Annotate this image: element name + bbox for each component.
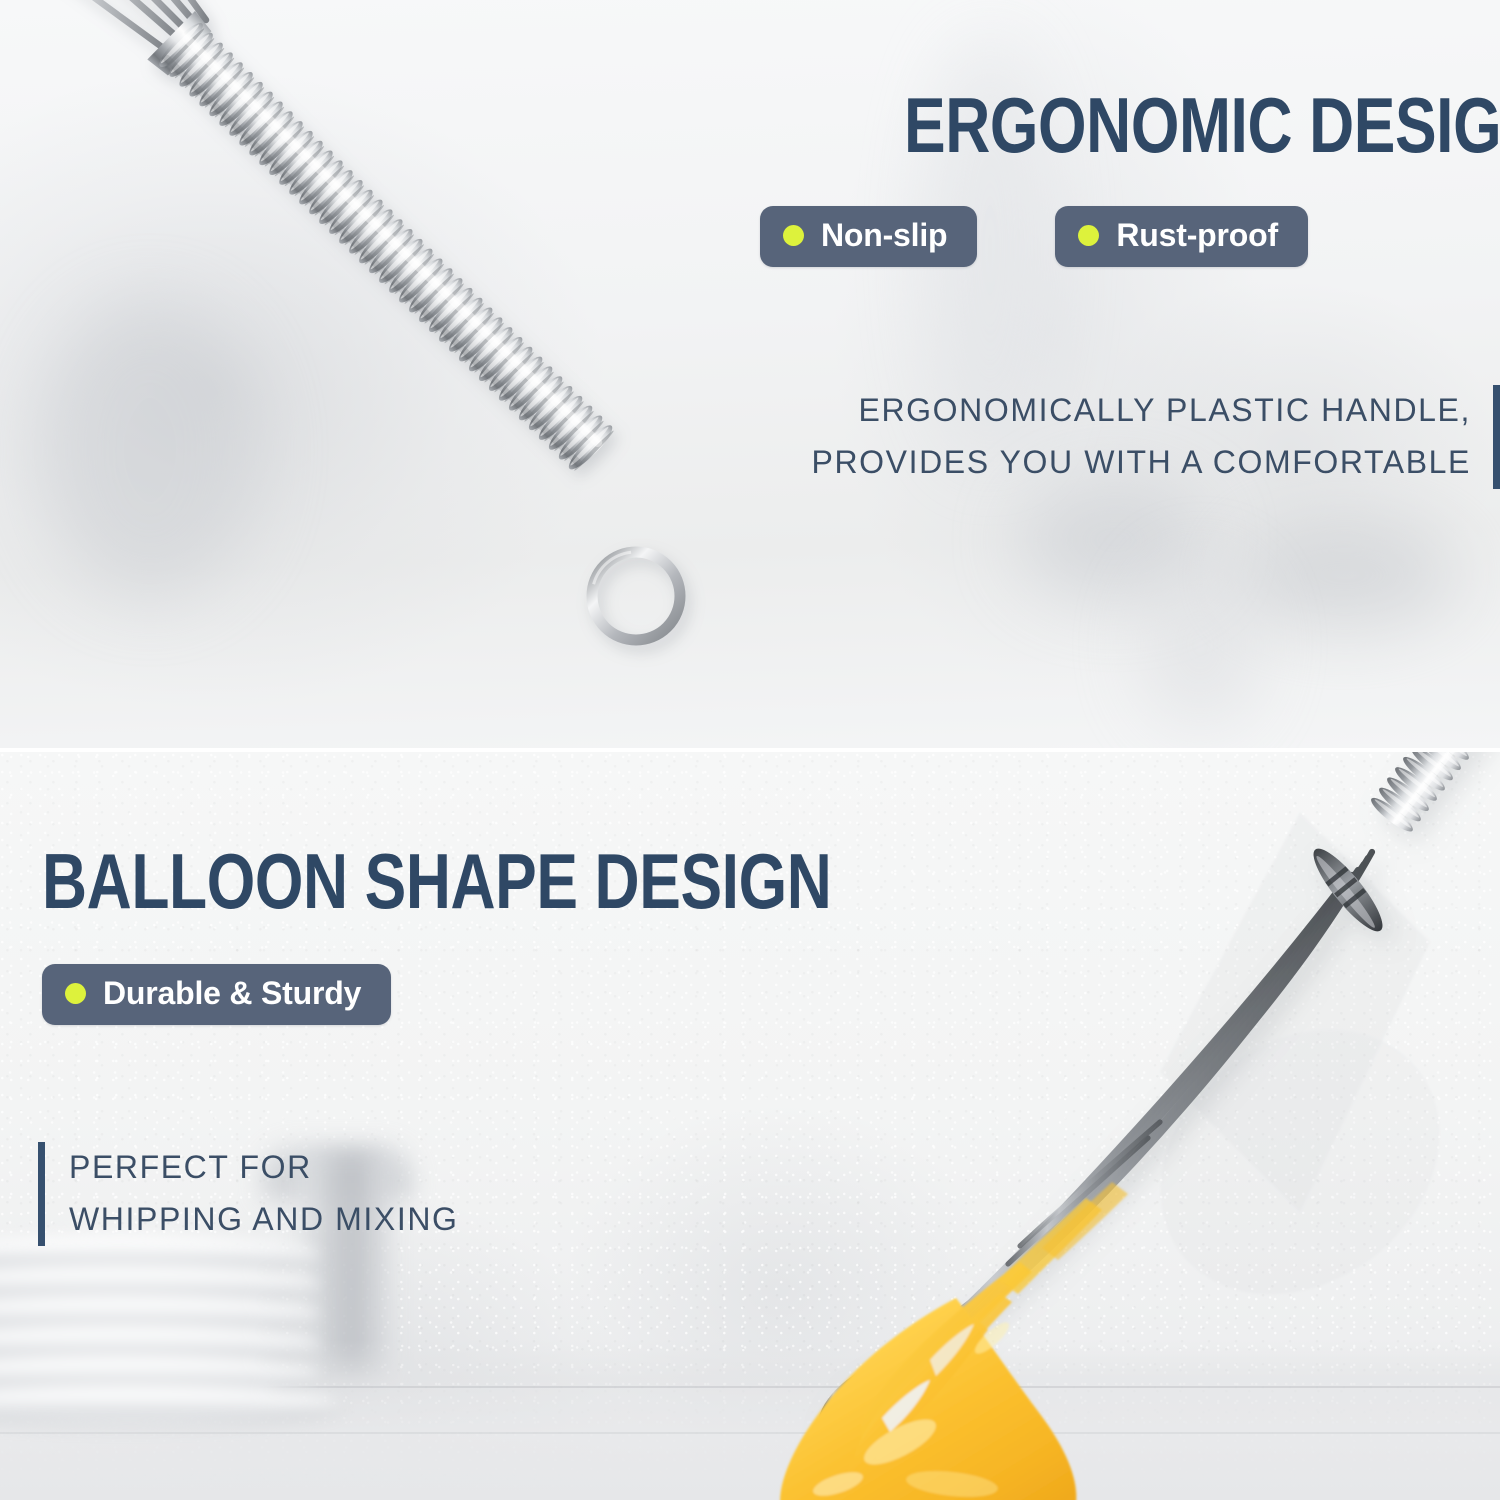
feature-badge-non-slip: Non-slip [760,206,977,267]
background-blur-shape [1230,520,1460,630]
bullet-dot-icon [1078,225,1099,246]
top-panel-description: ERGONOMICALLY PLASTIC HANDLE, PROVIDES Y… [700,385,1500,489]
accent-bar [1493,385,1500,489]
description-line: PROVIDES YOU WITH A COMFORTABLE [812,437,1472,489]
plate-stack-blur [0,1235,340,1445]
description-lines: ERGONOMICALLY PLASTIC HANDLE, PROVIDES Y… [812,385,1472,489]
description-line: PERFECT FOR [69,1142,459,1194]
description-lines: PERFECT FOR WHIPPING AND MIXING [69,1142,459,1246]
feature-badge-durable-sturdy: Durable & Sturdy [42,964,391,1025]
description-line: ERGONOMICALLY PLASTIC HANDLE, [812,385,1472,437]
background-blur-shape [1140,560,1260,730]
bottom-panel-text-block: BALLOON SHAPE DESIGN Durable & Sturdy [42,844,1029,1025]
bottom-badge-row: Durable & Sturdy [42,964,1029,1025]
bullet-dot-icon [783,225,804,246]
product-feature-poster: ERGONOMIC DESIGN Non-slip Rust-proof ERG… [0,0,1500,1500]
whisk-handle-image [0,0,860,748]
feature-badge-rust-proof: Rust-proof [1055,206,1308,267]
top-feature-panel: ERGONOMIC DESIGN Non-slip Rust-proof ERG… [0,0,1500,748]
bottom-feature-panel: BALLOON SHAPE DESIGN Durable & Sturdy PE… [0,752,1500,1500]
bullet-dot-icon [65,983,86,1004]
badge-label: Rust-proof [1116,217,1278,254]
top-panel-text-block: ERGONOMIC DESIGN Non-slip Rust-proof [760,88,1480,267]
accent-bar [38,1142,45,1246]
page-title: ERGONOMIC DESIGN [904,88,1480,162]
badge-label: Durable & Sturdy [103,975,361,1012]
top-badge-row: Non-slip Rust-proof [760,206,1480,267]
panel-divider [0,748,1500,752]
page-title: BALLOON SHAPE DESIGN [42,844,831,918]
bottom-panel-description: PERFECT FOR WHIPPING AND MIXING [38,1142,459,1246]
badge-label: Non-slip [821,217,947,254]
description-line: WHIPPING AND MIXING [69,1194,459,1246]
